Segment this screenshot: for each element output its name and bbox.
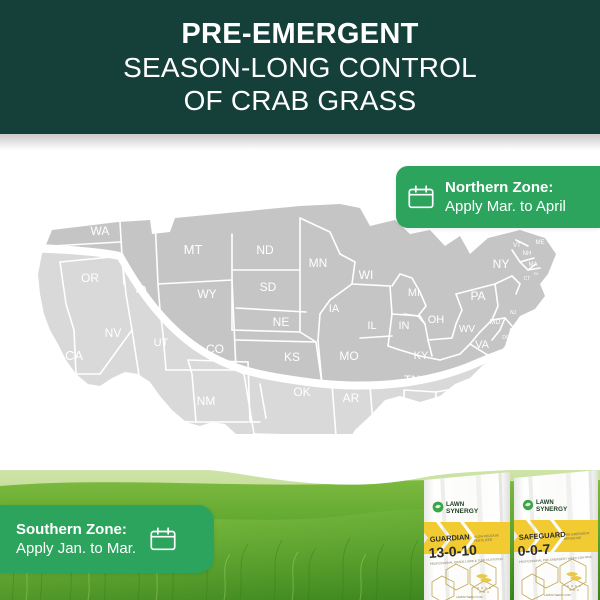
- svg-text:LAWNSYNERGY.COM: LAWNSYNERGY.COM: [456, 595, 483, 599]
- calendar-icon: [406, 182, 436, 212]
- southern-zone-text: Southern Zone: Apply Jan. to Mar.: [16, 520, 136, 558]
- svg-text:SYNERGY: SYNERGY: [446, 508, 479, 515]
- state-label-id: ID: [136, 284, 147, 296]
- northern-zone-subtitle: Apply Mar. to April: [445, 197, 566, 216]
- state-label-de: DE: [510, 328, 518, 334]
- svg-text:SYNERGY: SYNERGY: [536, 506, 568, 513]
- state-label-ny: NY: [493, 257, 510, 271]
- northern-zone-badge[interactable]: Northern Zone: Apply Mar. to April: [396, 166, 600, 228]
- state-label-wi: WI: [359, 268, 374, 282]
- state-label-md: MD: [490, 319, 501, 326]
- state-label-nh: NH: [523, 251, 532, 257]
- southern-zone-subtitle: Apply Jan. to Mar.: [16, 539, 136, 558]
- state-label-mi: MI: [408, 287, 420, 299]
- state-label-vt: VT: [513, 243, 521, 249]
- state-label-sc: SC: [465, 386, 482, 400]
- state-label-me: ME: [536, 240, 545, 246]
- state-label-ut: UT: [154, 337, 169, 349]
- state-label-az: AZ: [145, 395, 160, 409]
- svg-text:LAWN: LAWN: [446, 501, 465, 508]
- state-label-ky: KY: [414, 350, 429, 362]
- product-bags-svg: LAWN SYNERGY GUARDIAN SLOW RELEASE FERTI…: [422, 464, 600, 600]
- state-label-va: VA: [475, 339, 490, 351]
- state-label-al: AL: [408, 411, 421, 423]
- state-label-co: CO: [206, 342, 224, 356]
- state-label-ne: NE: [273, 315, 290, 329]
- state-label-mt: MT: [184, 242, 203, 257]
- state-label-mn: MN: [309, 256, 328, 270]
- southern-zone-title: Southern Zone:: [16, 520, 136, 539]
- state-label-in: IN: [399, 320, 410, 332]
- state-label-oh: OH: [428, 314, 445, 326]
- state-label-dc: DC: [502, 335, 510, 341]
- header-banner: PRE-EMERGENT SEASON-LONG CONTROL OF CRAB…: [0, 0, 600, 134]
- state-label-ri: RI: [534, 271, 538, 276]
- state-label-ct: CT: [524, 276, 531, 282]
- header-title-line3: OF CRAB GRASS: [184, 84, 417, 117]
- state-label-ar: AR: [343, 391, 360, 405]
- state-label-wa: WA: [91, 224, 110, 238]
- state-label-ga: GA: [441, 410, 458, 424]
- state-label-nj: NJ: [510, 310, 517, 316]
- state-label-pa: PA: [470, 289, 485, 303]
- state-label-ks: KS: [284, 350, 300, 364]
- state-label-il: IL: [367, 320, 376, 332]
- state-label-ok: OK: [293, 385, 310, 399]
- state-label-ms: MS: [375, 413, 392, 425]
- svg-text:13-0-10: 13-0-10: [428, 542, 477, 561]
- state-label-sd: SD: [260, 280, 277, 294]
- state-label-nd: ND: [256, 243, 274, 257]
- state-label-la: LA: [344, 437, 359, 451]
- header-title-line1: PRE-EMERGENT: [181, 17, 418, 51]
- state-label-nc: NC: [482, 362, 500, 376]
- product-bag-guardian[interactable]: LAWN SYNERGY GUARDIAN SLOW RELEASE FERTI…: [422, 472, 516, 600]
- state-label-mo: MO: [339, 349, 358, 363]
- state-label-ia: IA: [329, 303, 340, 315]
- state-label-tx: TX: [280, 435, 297, 450]
- state-label-wy: WY: [197, 287, 216, 301]
- state-label-nm: NM: [197, 394, 216, 408]
- state-label-ca: CA: [65, 348, 83, 363]
- state-label-or: OR: [81, 271, 99, 285]
- state-label-wv: WV: [459, 324, 475, 335]
- state-label-tn: TN: [404, 373, 420, 387]
- southern-zone-badge[interactable]: Southern Zone: Apply Jan. to Mar.: [0, 505, 214, 573]
- calendar-icon: [148, 524, 178, 554]
- svg-text:LAWNSYNERGY.COM: LAWNSYNERGY.COM: [544, 593, 571, 597]
- product-bag-safeguard[interactable]: LAWN SYNERGY SAFEGUARD PRE-EMERGENT HERB…: [506, 470, 600, 600]
- state-label-nv: NV: [105, 326, 122, 340]
- svg-text:0-0-7: 0-0-7: [517, 541, 551, 559]
- product-bags[interactable]: LAWN SYNERGY GUARDIAN SLOW RELEASE FERTI…: [422, 464, 600, 600]
- header-title-line2: SEASON-LONG CONTROL: [123, 51, 477, 84]
- northern-zone-title: Northern Zone:: [445, 178, 566, 197]
- northern-zone-text: Northern Zone: Apply Mar. to April: [445, 178, 566, 216]
- state-label-ma: MA: [529, 262, 538, 268]
